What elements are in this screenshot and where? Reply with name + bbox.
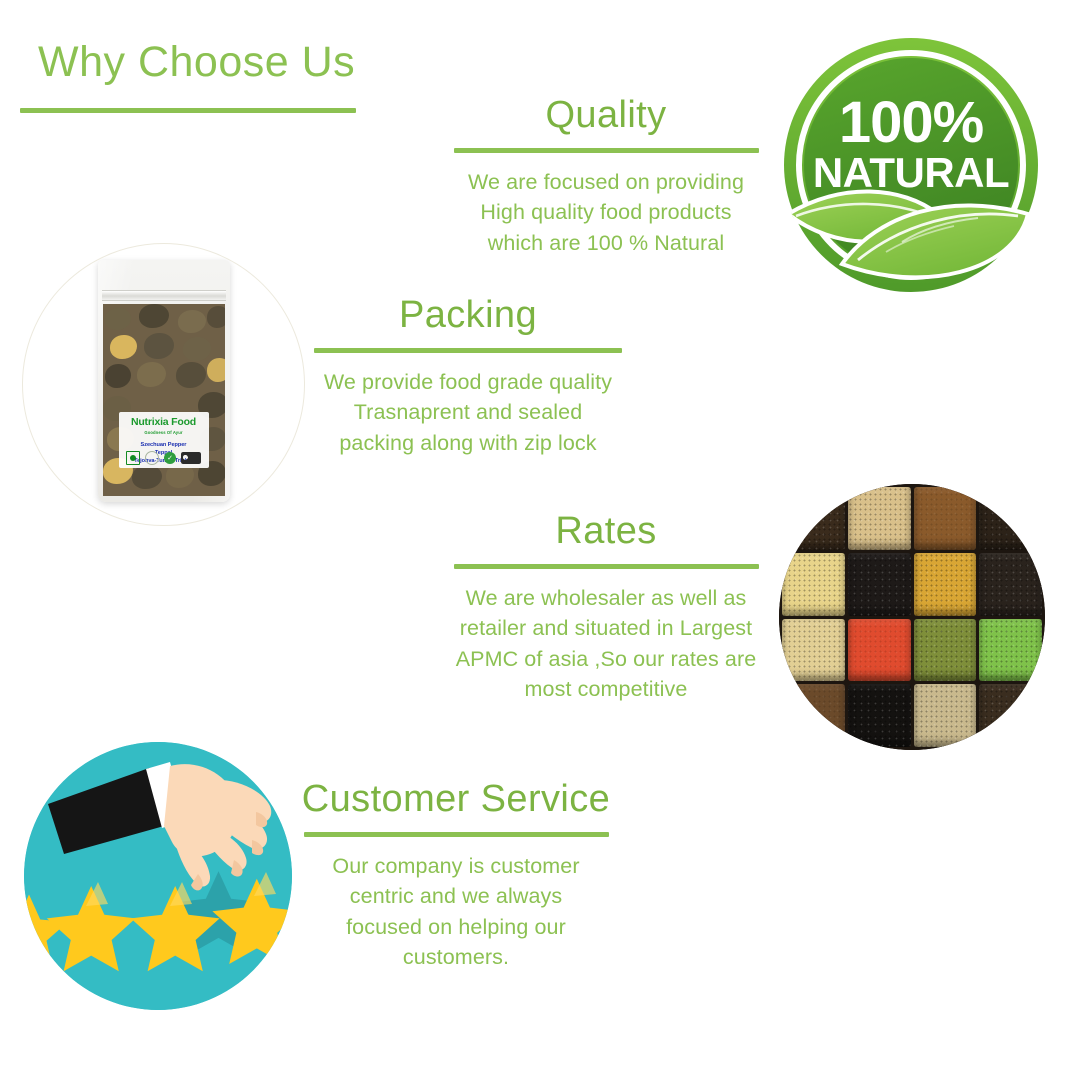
brand-tagline: Goodness Of Ayur [123, 430, 205, 435]
pouch-graphic: Nutrixia Food Goodness Of Ayur Szechuan … [98, 260, 230, 502]
badge-label-text: NATURAL [813, 149, 1009, 196]
spice-bin [979, 553, 1042, 616]
spice-market-photo [779, 484, 1045, 750]
feature-quality: Quality We are focused on providing High… [450, 96, 762, 258]
spice-bin [979, 487, 1042, 550]
spice-bin [914, 619, 977, 682]
pouch-window: Nutrixia Food Goodness Of Ayur Szechuan … [103, 304, 225, 496]
veg-mark-icon [126, 451, 140, 465]
spice-bin [782, 487, 845, 550]
organic-icon: ✓ [164, 452, 176, 464]
bull-icon [181, 452, 201, 464]
fssai-icon [145, 451, 159, 465]
feature-packing: Packing We provide food grade quality Tr… [312, 296, 624, 458]
feature-body-packing: We provide food grade quality Trasnapren… [312, 367, 624, 459]
spice-bin [848, 487, 911, 550]
spice-bin [782, 553, 845, 616]
why-choose-us-infographic: Why Choose Us 1 [0, 0, 1080, 1080]
spice-bin [914, 487, 977, 550]
page-title: Why Choose Us [38, 41, 355, 84]
spice-bin [782, 619, 845, 682]
spice-bin [848, 553, 911, 616]
feature-title-packing: Packing [312, 296, 624, 336]
spice-bin [914, 553, 977, 616]
feature-body-quality: We are focused on providing High quality… [450, 167, 762, 259]
feature-rates: Rates We are wholesaler as well as retai… [450, 512, 762, 705]
brand-name: Nutrixia Food [123, 417, 205, 428]
pouch-label: Nutrixia Food Goodness Of Ayur Szechuan … [119, 412, 209, 468]
badge-percent-text: 100% [839, 90, 984, 155]
five-star-rating-hand-icon [24, 742, 292, 1010]
feature-title-quality: Quality [450, 96, 762, 136]
certification-marks: ✓ [124, 451, 204, 465]
feature-title-customer-service: Customer Service [300, 780, 612, 820]
spice-bin [848, 619, 911, 682]
spice-bin-grid [779, 484, 1045, 750]
product-pouch-icon: Nutrixia Food Goodness Of Ayur Szechuan … [22, 243, 305, 526]
feature-underline-rates [454, 564, 759, 569]
spice-bin [979, 619, 1042, 682]
spice-bin [979, 684, 1042, 747]
natural-seal-icon: 100% NATURAL [782, 36, 1040, 294]
spice-bin [914, 684, 977, 747]
page-title-underline [20, 108, 356, 113]
feature-underline-quality [454, 148, 759, 153]
feature-title-rates: Rates [450, 512, 762, 552]
feature-body-rates: We are wholesaler as well as retailer an… [450, 583, 762, 705]
feature-underline-customer-service [304, 832, 609, 837]
feature-body-customer-service: Our company is customer centric and we a… [300, 851, 612, 973]
feature-customer-service: Customer Service Our company is customer… [300, 780, 612, 973]
pouch-zip-lock [102, 290, 226, 301]
spice-bin [782, 684, 845, 747]
spice-bin [848, 684, 911, 747]
feature-underline-packing [314, 348, 622, 353]
